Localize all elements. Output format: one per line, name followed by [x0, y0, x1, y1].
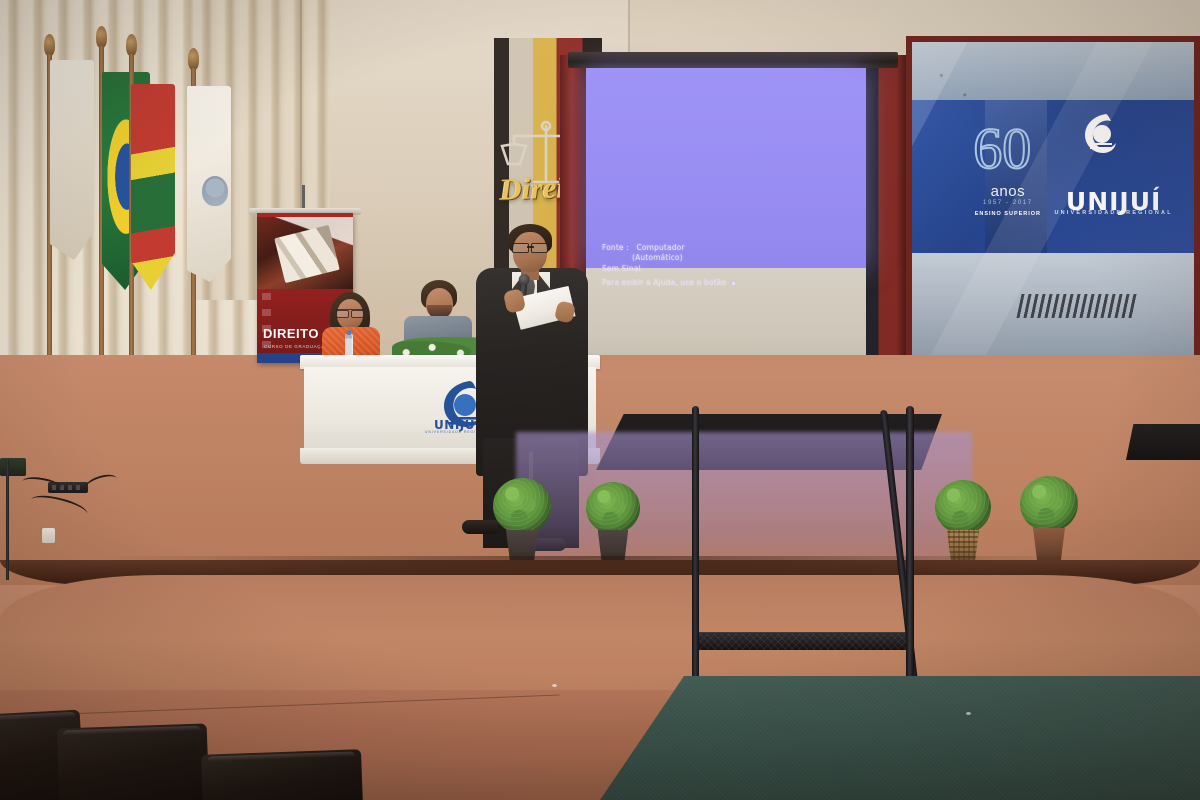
- screen-curtain-right: [862, 55, 906, 385]
- flag-finial-1: [44, 34, 55, 56]
- law-books-image: [274, 225, 339, 283]
- flag-finial-3: [126, 34, 137, 56]
- shoe-left: [462, 520, 498, 534]
- auditorium-photo: Direito Fonte : Computador (Automático) …: [0, 0, 1200, 800]
- topiary-foliage: [935, 480, 991, 534]
- microphone-stand: [6, 460, 9, 580]
- rollup-banner-photo: [257, 217, 353, 289]
- screen-valance-bar: [568, 52, 898, 68]
- green-carpet: [600, 676, 1200, 800]
- projector-osd-message: Fonte : Computador (Automático) Sem Sina…: [602, 243, 852, 288]
- unijui-anniversary-banner: 60 anos 1957 - 2017 ENSINO SUPERIOR UNIJ…: [906, 36, 1200, 388]
- flag-finial-4: [188, 48, 199, 70]
- topiary-foliage: [586, 482, 640, 534]
- stair-tread: [694, 632, 912, 650]
- audio-equipment-box: [0, 458, 26, 476]
- projection-screen-lit-area: [586, 68, 866, 268]
- topiary-foliage: [493, 478, 551, 534]
- stage-rug-right: [1126, 424, 1200, 460]
- auditorium-seat: [57, 723, 210, 800]
- flag-unijui: [187, 86, 231, 282]
- flag-finial-2: [96, 26, 107, 48]
- flag-white-institutional: [50, 60, 94, 260]
- glasses-icon: [336, 309, 364, 315]
- projector-light-spill: [516, 432, 972, 564]
- topiary-foliage: [1020, 476, 1078, 532]
- banner-glass-reflection: [912, 42, 1194, 382]
- rollup-banner-sidebar-text: [262, 293, 271, 351]
- osd-source-value: Computador: [637, 243, 685, 252]
- floor-debris: [552, 684, 557, 687]
- osd-help-text: Para exibir a Ajuda, use o botão: [602, 278, 726, 287]
- wall-seam-right: [628, 0, 630, 56]
- floor-socket: [42, 528, 55, 543]
- osd-source-mode: (Automático): [602, 253, 852, 263]
- circle-button-icon: [731, 281, 736, 286]
- osd-status: Sem Sinal.: [602, 264, 643, 273]
- floor-debris: [966, 712, 971, 715]
- auditorium-seat: [201, 749, 363, 800]
- glasses-bridge: [527, 246, 534, 248]
- flag-rio-grande-do-sul: [131, 84, 175, 290]
- osd-source-label: Fonte :: [602, 243, 629, 252]
